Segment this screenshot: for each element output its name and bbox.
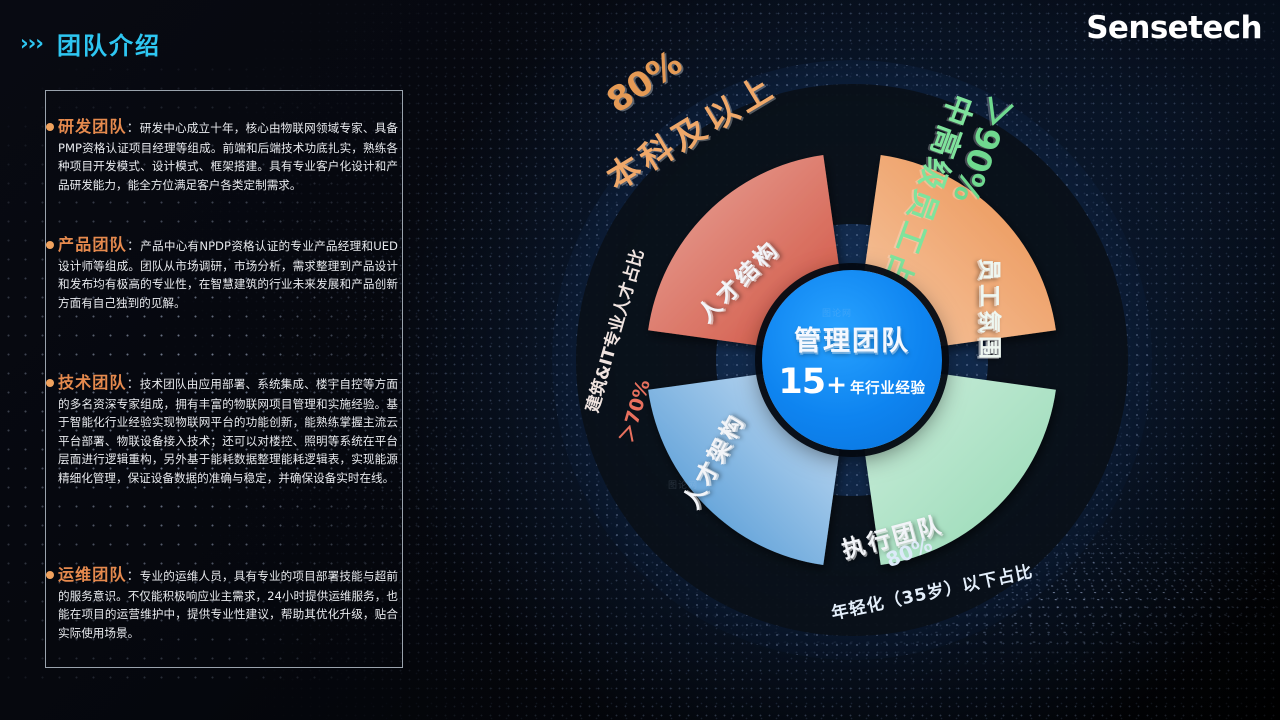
team-heading: 产品团队 xyxy=(58,235,127,254)
watermark: 图论网 xyxy=(822,306,852,319)
center-plus-icon: + xyxy=(826,370,847,399)
team-heading: 研发团队 xyxy=(58,117,127,136)
team-heading: 运维团队 xyxy=(58,565,127,584)
team-body-text: 技术团队由应用部署、系统集成、楼宇自控等方面的多名资深专家组成，拥有丰富的物联网… xyxy=(58,377,398,485)
center-title: 管理团队 xyxy=(794,319,910,358)
team-paragraph-rd: 研发团队：研发中心成立十年，核心由物联网领域专家、具备PMP资格认证项目经理等组… xyxy=(58,118,398,194)
heading-separator: ： xyxy=(127,121,140,136)
bullet-icon xyxy=(46,571,54,579)
bullet-icon xyxy=(46,123,54,131)
bullet-icon xyxy=(46,379,54,387)
bullet-icon xyxy=(46,241,54,249)
heading-separator: ： xyxy=(127,569,140,584)
donut-center-hub[interactable]: 管理团队 15 + 年行业经验 xyxy=(762,270,942,450)
chevrons-icon: ››› xyxy=(20,31,43,55)
team-paragraph-product: 产品团队：产品中心有NPDP资格认证的专业产品经理和UED设计师等组成。团队从市… xyxy=(58,236,398,312)
brand-logo: Sensetech xyxy=(1086,10,1262,46)
team-heading: 技术团队 xyxy=(58,373,127,392)
team-paragraph-ops: 运维团队：专业的运维人员，具有专业的项目部署技能与超前的服务意识。不仅能积极响应… xyxy=(58,566,398,642)
page-title: 团队介绍 xyxy=(57,26,161,61)
center-years-unit: 年行业经验 xyxy=(850,377,926,398)
watermark: 图论网 xyxy=(668,478,698,491)
center-years-number: 15 xyxy=(778,362,825,402)
center-subtitle: 15 + 年行业经验 xyxy=(778,362,925,402)
slice-label-employee-atmosphere: 员工氛围 xyxy=(975,258,1009,362)
heading-separator: ： xyxy=(127,239,140,254)
heading-separator: ： xyxy=(127,377,140,392)
team-paragraph-tech: 技术团队：技术团队由应用部署、系统集成、楼宇自控等方面的多名资深专家组成，拥有丰… xyxy=(58,374,398,488)
team-structure-donut-chart: 人才结构 员工氛围 执行团队 人才架构 80% 本科及以上 ＞90% 中高级员工… xyxy=(540,48,1164,672)
